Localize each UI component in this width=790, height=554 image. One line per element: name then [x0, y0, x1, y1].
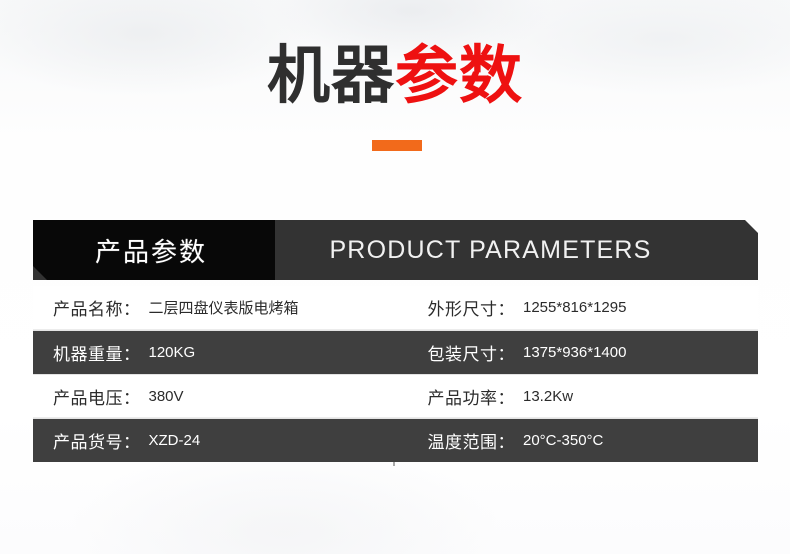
ribbon-title-en: PRODUCT PARAMETERS	[275, 220, 758, 280]
spec-table: 产品名称： 二层四盘仪表版电烤箱 外形尺寸： 1255*816*1295 机器重…	[33, 286, 758, 462]
spec-value: XZD-24	[149, 432, 201, 449]
spec-cell-left: 产品货号： XZD-24	[33, 419, 396, 462]
spec-cell-right: 温度范围： 20°C-350°C	[396, 419, 759, 462]
title-underline-accent	[372, 140, 422, 151]
ribbon-title-cn: 产品参数	[33, 220, 275, 280]
spec-cell-left: 产品名称： 二层四盘仪表版电烤箱	[33, 286, 396, 329]
spec-label: 产品货号：	[53, 428, 141, 453]
spec-label: 外形尺寸：	[428, 295, 516, 320]
spec-value: 13.2Kw	[523, 388, 573, 405]
spec-value: 120KG	[149, 344, 196, 361]
spec-label: 温度范围：	[428, 428, 516, 453]
product-parameters-page: 机器参数 产品参数 PRODUCT PARAMETERS 产品名称： 二层四盘仪…	[0, 0, 790, 554]
page-title: 机器参数	[0, 44, 790, 107]
table-row: 机器重量： 120KG 包装尺寸： 1375*936*1400	[33, 330, 758, 374]
spec-cell-right: 产品功率： 13.2Kw	[396, 375, 759, 417]
table-row: 产品货号： XZD-24 温度范围： 20°C-350°C	[33, 418, 758, 462]
table-row: 产品名称： 二层四盘仪表版电烤箱 外形尺寸： 1255*816*1295	[33, 286, 758, 330]
spec-label: 机器重量：	[53, 340, 141, 365]
spec-label: 产品功率：	[428, 384, 516, 409]
page-title-red-part: 参数	[395, 39, 523, 112]
spec-label: 产品电压：	[53, 384, 141, 409]
spec-value: 1375*936*1400	[523, 344, 626, 361]
spec-value: 二层四盘仪表版电烤箱	[149, 297, 299, 318]
spec-cell-right: 外形尺寸： 1255*816*1295	[396, 286, 759, 329]
section-header-ribbon: 产品参数 PRODUCT PARAMETERS	[33, 220, 758, 280]
table-row: 产品电压： 380V 产品功率： 13.2Kw	[33, 374, 758, 418]
page-title-dark-part: 机器	[267, 39, 395, 112]
spec-value: 1255*816*1295	[523, 299, 626, 316]
spec-label: 产品名称：	[53, 295, 141, 320]
spec-label: 包装尺寸：	[428, 340, 516, 365]
spec-value: 380V	[149, 388, 184, 405]
spec-cell-right: 包装尺寸： 1375*936*1400	[396, 331, 759, 374]
spec-value: 20°C-350°C	[523, 432, 603, 449]
spec-cell-left: 机器重量： 120KG	[33, 331, 396, 374]
spec-cell-left: 产品电压： 380V	[33, 375, 396, 417]
